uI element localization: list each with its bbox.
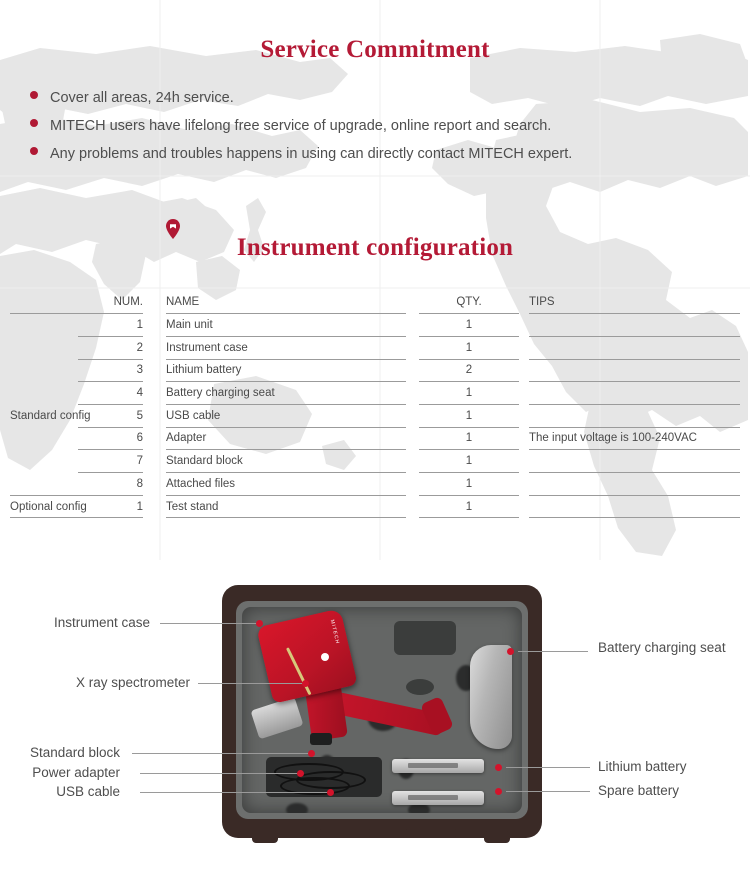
- list-item: MITECH users have lifelong free service …: [30, 112, 720, 140]
- bullet-dot-icon: [30, 147, 38, 155]
- spacer: [143, 450, 166, 473]
- bullet-dot-icon: [30, 91, 38, 99]
- spacer: [519, 450, 529, 473]
- callout-spare-battery-label: Spare battery: [598, 782, 679, 799]
- list-item-label: Any problems and troubles happens in usi…: [50, 140, 572, 168]
- row-qty: 1: [419, 450, 519, 473]
- row-group: [10, 473, 78, 496]
- spacer: [406, 382, 419, 405]
- callout-lithium-battery-dot: [495, 764, 502, 771]
- callout-power-adapter-dot: [297, 770, 304, 777]
- foam-cutout: [406, 679, 434, 695]
- spacer: [519, 359, 529, 382]
- row-group: [10, 427, 78, 450]
- spacer: [143, 359, 166, 382]
- callout-standard-block-label: Standard block: [0, 744, 120, 761]
- row-num: 7: [78, 450, 143, 473]
- callout-standard-block-dot: [308, 750, 315, 757]
- callout-x-ray-spectrometer-line: [198, 683, 306, 684]
- spacer: [519, 495, 529, 518]
- row-name: Standard block: [166, 450, 406, 473]
- case-foot: [252, 831, 278, 843]
- row-tips-adapter: The input voltage is 100-240VAC: [529, 427, 740, 450]
- mitech-logo-mark: [321, 653, 329, 661]
- row-group: [10, 450, 78, 473]
- list-item-label: MITECH users have lifelong free service …: [50, 112, 551, 140]
- row-num: 4: [78, 382, 143, 405]
- spacer: [143, 495, 166, 518]
- callout-usb-cable-dot: [327, 789, 334, 796]
- spacer: [519, 314, 529, 337]
- spectrometer-nose: [250, 697, 303, 740]
- row-tips: [529, 382, 740, 405]
- spacer: [143, 314, 166, 337]
- header-name: NAME: [166, 291, 406, 314]
- config-table-element: NUM. NAME QTY. TIPS 1 Main unit 1: [10, 291, 740, 518]
- row-name: Adapter: [166, 427, 406, 450]
- row-name: Instrument case: [166, 336, 406, 359]
- lithium-battery-item: [392, 759, 484, 773]
- callout-usb-cable-line: [140, 792, 330, 793]
- table-row: 1 Main unit 1: [10, 314, 740, 337]
- spacer: [143, 427, 166, 450]
- page-root: Service Commitment Cover all areas, 24h …: [0, 0, 750, 882]
- spacer: [519, 404, 529, 427]
- list-item: Cover all areas, 24h service.: [30, 84, 720, 112]
- battery-label: [408, 795, 458, 800]
- row-tips: [529, 404, 740, 427]
- table-row: 2 Instrument case 1: [10, 336, 740, 359]
- spacer: [143, 336, 166, 359]
- spacer: [406, 427, 419, 450]
- row-group-optional-config: Optional config: [10, 495, 78, 518]
- callout-instrument-case-line: [160, 623, 260, 624]
- row-name: USB cable: [166, 404, 406, 427]
- header-tips: TIPS: [529, 291, 740, 314]
- list-item-label: Cover all areas, 24h service.: [50, 84, 234, 112]
- instrument-configuration-table: NUM. NAME QTY. TIPS 1 Main unit 1: [10, 291, 740, 518]
- row-group: [10, 382, 78, 405]
- row-qty: 1: [419, 314, 519, 337]
- row-tips: [529, 450, 740, 473]
- row-num: 6: [78, 427, 143, 450]
- row-num: 8: [78, 473, 143, 496]
- spacer: [519, 336, 529, 359]
- row-qty: 1: [419, 404, 519, 427]
- instrument-case-photo: MITECH: [222, 585, 542, 845]
- battery-label: [408, 763, 458, 768]
- table-row: 3 Lithium battery 2: [10, 359, 740, 382]
- spacer: [406, 495, 419, 518]
- row-num: 1: [78, 314, 143, 337]
- foam-cutout: [394, 621, 456, 655]
- battery-charging-seat-item: [470, 645, 512, 749]
- spacer: [519, 291, 529, 314]
- row-num: 3: [78, 359, 143, 382]
- case-foot: [484, 831, 510, 843]
- callout-battery-charging-seat-dot: [507, 648, 514, 655]
- spacer: [143, 382, 166, 405]
- row-name: Attached files: [166, 473, 406, 496]
- row-qty: 1: [419, 336, 519, 359]
- callout-instrument-case-dot: [256, 620, 263, 627]
- spectrometer-stripe: [286, 647, 311, 695]
- table-row: 8 Attached files 1: [10, 473, 740, 496]
- spacer: [406, 314, 419, 337]
- row-tips: [529, 473, 740, 496]
- spacer: [143, 473, 166, 496]
- callout-power-adapter-label: Power adapter: [0, 764, 120, 781]
- list-item: Any problems and troubles happens in usi…: [30, 140, 720, 168]
- callout-battery-charging-seat-label: Battery charging seat: [598, 639, 728, 656]
- spacer: [406, 473, 419, 496]
- row-group: [10, 359, 78, 382]
- row-group: [10, 336, 78, 359]
- spacer: [143, 404, 166, 427]
- callout-battery-charging-seat-line: [518, 651, 588, 652]
- callout-x-ray-spectrometer-label: X ray spectrometer: [0, 674, 190, 691]
- spacer: [406, 359, 419, 382]
- spacer: [143, 291, 166, 314]
- callout-x-ray-spectrometer-dot: [302, 680, 309, 687]
- row-name: Test stand: [166, 495, 406, 518]
- row-qty: 2: [419, 359, 519, 382]
- spacer: [406, 336, 419, 359]
- bullet-dot-icon: [30, 119, 38, 127]
- map-pin-icon: [166, 219, 180, 239]
- row-qty: 1: [419, 495, 519, 518]
- table-row: 6 Adapter 1 The input voltage is 100-240…: [10, 427, 740, 450]
- row-num: 2: [78, 336, 143, 359]
- table-row: 4 Battery charging seat 1: [10, 382, 740, 405]
- row-tips: [529, 359, 740, 382]
- row-name: Lithium battery: [166, 359, 406, 382]
- row-tips: [529, 495, 740, 518]
- callout-standard-block-line: [132, 753, 312, 754]
- spacer: [406, 291, 419, 314]
- row-qty: 1: [419, 382, 519, 405]
- spacer: [519, 473, 529, 496]
- case-latch: [404, 829, 458, 837]
- row-qty: 1: [419, 427, 519, 450]
- spectrometer-body: [256, 608, 357, 703]
- instrument-configuration-title: Instrument configuration: [0, 234, 750, 262]
- spacer: [519, 382, 529, 405]
- row-group-standard-config: Standard config: [10, 404, 78, 427]
- header-group: [10, 291, 78, 314]
- callout-usb-cable-label: USB cable: [0, 783, 120, 800]
- row-name: Battery charging seat: [166, 382, 406, 405]
- table-row: Optional config 1 Test stand 1: [10, 495, 740, 518]
- row-name: Main unit: [166, 314, 406, 337]
- row-group: [10, 314, 78, 337]
- foam-hole: [286, 803, 308, 813]
- service-commitment-list: Cover all areas, 24h service. MITECH use…: [30, 84, 720, 168]
- callout-spare-battery-dot: [495, 788, 502, 795]
- row-num: 1: [78, 495, 143, 518]
- callout-lithium-battery-label: Lithium battery: [598, 758, 687, 775]
- header-num: NUM.: [78, 291, 143, 314]
- spacer: [406, 450, 419, 473]
- callout-lithium-battery-line: [506, 767, 590, 768]
- service-commitment-title: Service Commitment: [0, 36, 750, 64]
- spare-battery-item: [392, 791, 484, 805]
- row-tips: [529, 314, 740, 337]
- foam-insert: MITECH: [242, 607, 522, 813]
- case-interior: MITECH: [236, 601, 528, 819]
- header-qty: QTY.: [419, 291, 519, 314]
- cable-compartment: [266, 757, 382, 797]
- table-header-row: NUM. NAME QTY. TIPS: [10, 291, 740, 314]
- callout-instrument-case-label: Instrument case: [0, 614, 150, 631]
- spacer: [519, 427, 529, 450]
- table-row: Standard config 5 USB cable 1: [10, 404, 740, 427]
- row-qty: 1: [419, 473, 519, 496]
- table-row: 7 Standard block 1: [10, 450, 740, 473]
- row-tips: [529, 336, 740, 359]
- case-latch: [318, 829, 372, 837]
- standard-block-item: [310, 733, 332, 745]
- callout-power-adapter-line: [140, 773, 300, 774]
- spacer: [406, 404, 419, 427]
- callout-spare-battery-line: [506, 791, 590, 792]
